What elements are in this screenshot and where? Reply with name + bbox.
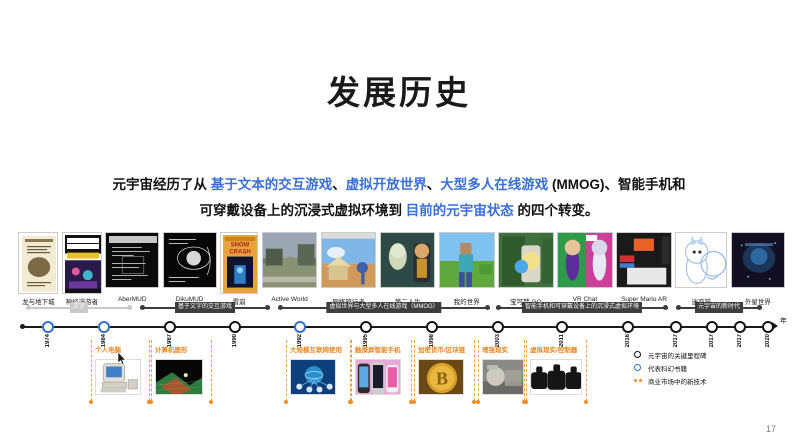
- legend-symbol: [634, 351, 648, 358]
- technology-guide-line: [151, 340, 152, 401]
- legend-symbol: [634, 379, 648, 382]
- mouse-cursor-icon: [118, 352, 127, 365]
- timeline-node: [670, 321, 682, 333]
- technology-guide-line: [149, 340, 150, 401]
- intro-paragraph: 元宇宙经历了从 基于文本的交互游戏、虚拟开放世界、大型多人在线游戏 (MMOG)…: [70, 172, 728, 224]
- slide-root: 发展历史 元宇宙经历了从 基于文本的交互游戏、虚拟开放世界、大型多人在线游戏 (…: [0, 0, 798, 446]
- era-bar: 文字: [26, 302, 132, 314]
- technology-item: 增强现实: [482, 344, 526, 395]
- timeline-node: [98, 321, 110, 333]
- paragraph-text: 的四个转变。: [514, 203, 599, 218]
- technology-image: [482, 359, 524, 395]
- timeline-node: [294, 321, 306, 333]
- era-end-dot: [757, 305, 762, 310]
- era-end-dot: [127, 305, 132, 310]
- gallery-thumbnail: [321, 232, 377, 288]
- technology-guide-line: [524, 340, 525, 401]
- page-title: 发展历史: [0, 66, 798, 114]
- era-bar: 元宇宙的新时代: [676, 302, 762, 314]
- paragraph-text: 、: [332, 177, 346, 192]
- gallery-strip: 龙与地下城 神经漫游者 AberMUD: [8, 232, 790, 294]
- technology-guide-line: [474, 340, 475, 401]
- gallery-thumbnail: [675, 232, 727, 288]
- technology-marker-dot: [209, 400, 213, 404]
- technology-item: 触摸屏智能手机: [355, 344, 413, 395]
- technology-item: 大规模互联网使用: [290, 344, 352, 395]
- technology-guide-line: [478, 340, 479, 401]
- era-label: 虚拟世界与大型多人在线游戏（MMOG）: [326, 302, 441, 313]
- timeline-node: [556, 321, 568, 333]
- gallery-thumbnail: [105, 232, 159, 288]
- paragraph-highlight: 基于文本的交互游戏: [211, 177, 333, 192]
- technology-image: [355, 359, 401, 395]
- paragraph-text: 可穿戴设备上的沉浸式虚拟环境到: [199, 203, 405, 218]
- timeline-axis-start-dot: [20, 324, 25, 329]
- technology-label: 大规模互联网使用: [290, 344, 352, 354]
- technology-image: [155, 359, 203, 395]
- technology-marker-dot: [584, 400, 588, 404]
- technology-marker-dot: [476, 400, 480, 404]
- era-label: 文字: [70, 302, 88, 313]
- gallery-thumbnail: SNOW CRASH: [220, 232, 258, 294]
- technology-item: 计算机图形: [155, 344, 213, 395]
- technology-image: B: [418, 359, 464, 395]
- era-bar: 智能手机和可穿戴设备上的沉浸式虚拟环境: [496, 302, 668, 314]
- technology-label: 触摸屏智能手机: [355, 344, 413, 354]
- technology-item: 加密货币/区块链 B: [418, 344, 476, 395]
- legend-label: 元宇宙的关键里程碑: [648, 350, 707, 360]
- intro-paragraph-line-2: 可穿戴设备上的沉浸式虚拟环境到 目前的元宇宙状态 的四个转变。: [70, 198, 728, 224]
- era-start-dot: [278, 305, 283, 310]
- technology-guide-line: [286, 340, 287, 401]
- timeline-node: [734, 321, 746, 333]
- era-label: 基于文字的交互游戏: [175, 302, 235, 313]
- technology-marker-dot: [524, 400, 528, 404]
- technology-guide-line: [526, 340, 527, 401]
- technology-image: [290, 359, 336, 395]
- technology-label: 增强现实: [482, 344, 526, 354]
- era-start-dot: [26, 305, 31, 310]
- era-start-dot: [140, 305, 145, 310]
- era-bar: 基于文字的交互游戏: [140, 302, 270, 314]
- gallery-thumbnail: [616, 232, 672, 288]
- gallery-thumbnail: [62, 232, 102, 294]
- timeline-node: [426, 321, 438, 333]
- era-start-dot: [496, 305, 501, 310]
- axis-unit-label: 年: [780, 316, 787, 326]
- svg-text:B: B: [436, 368, 448, 388]
- era-bar: 虚拟世界与大型多人在线游戏（MMOG）: [278, 302, 490, 314]
- gallery-thumbnail: [557, 232, 613, 288]
- gallery-thumbnail: [262, 232, 318, 288]
- legend-item: 代表科幻书籍: [634, 361, 784, 374]
- timeline-node: [622, 321, 634, 333]
- svg-text:CRASH: CRASH: [229, 249, 250, 255]
- gallery-thumbnail: [163, 232, 217, 288]
- technology-label: 计算机图形: [155, 344, 213, 354]
- technology-guide-line: [91, 340, 92, 401]
- orange-dots-icon: [634, 379, 642, 382]
- timeline-node: [42, 321, 54, 333]
- technology-guide-line: [414, 340, 415, 401]
- era-end-dot: [663, 305, 668, 310]
- timeline-node: [492, 321, 504, 333]
- legend-item: 商业市场中的新技术: [634, 374, 784, 387]
- era-end-dot: [485, 305, 490, 310]
- paragraph-highlight: 目前的元宇宙状态: [406, 203, 514, 218]
- technology-marker-dot: [284, 400, 288, 404]
- gallery-thumbnail: [380, 232, 436, 288]
- svg-text:SNOW: SNOW: [231, 243, 250, 249]
- timeline-node: [229, 321, 241, 333]
- era-start-dot: [676, 305, 681, 310]
- technology-label: 加密货币/区块链: [418, 344, 476, 354]
- timeline-node: [360, 321, 372, 333]
- technology-guide-line: [411, 340, 412, 401]
- gallery-thumbnail: [439, 232, 495, 288]
- legend-symbol: [634, 364, 648, 371]
- era-label: 智能手机和可穿戴设备上的沉浸式虚拟环境: [522, 302, 642, 313]
- legend-label: 代表科幻书籍: [648, 363, 687, 373]
- timeline-node: [706, 321, 718, 333]
- black-ring-icon: [634, 351, 641, 358]
- paragraph-highlight: 大型多人在线游戏: [440, 177, 548, 192]
- technology-image: [530, 359, 582, 395]
- technology-label: 虚拟现实/控制器: [530, 344, 588, 354]
- paragraph-text: 元宇宙经历了从: [112, 177, 210, 192]
- blue-ring-icon: [634, 364, 641, 371]
- timeline-node: [164, 321, 176, 333]
- technology-marker-dot: [89, 400, 93, 404]
- legend-item: 元宇宙的关键里程碑: [634, 348, 784, 361]
- timeline-node: [762, 321, 774, 333]
- technology-marker-dot: [412, 400, 416, 404]
- intro-paragraph-line-1: 元宇宙经历了从 基于文本的交互游戏、虚拟开放世界、大型多人在线游戏 (MMOG)…: [70, 172, 728, 198]
- technology-guide-line: [211, 340, 212, 401]
- technology-marker-dot: [349, 400, 353, 404]
- technology-item: 虚拟现实/控制器: [530, 344, 588, 395]
- legend: 元宇宙的关键里程碑 代表科幻书籍 商业市场中的新技术: [634, 348, 784, 387]
- paragraph-text: 、: [427, 177, 441, 192]
- paragraph-text: (MMOG)、智能手机和: [548, 177, 685, 192]
- technology-guide-line: [586, 340, 587, 401]
- gallery-thumbnail: [498, 232, 554, 288]
- technology-guide-line: [351, 340, 352, 401]
- paragraph-highlight: 虚拟开放世界: [346, 177, 427, 192]
- gallery-thumbnail: [18, 232, 58, 294]
- era-end-dot: [265, 305, 270, 310]
- gallery-thumbnail: [731, 232, 785, 288]
- technology-marker-dot: [149, 400, 153, 404]
- legend-label: 商业市场中的新技术: [648, 376, 707, 386]
- era-label: 元宇宙的新时代: [695, 302, 743, 313]
- timeline-axis: [22, 326, 774, 328]
- page-number: 17: [766, 424, 776, 434]
